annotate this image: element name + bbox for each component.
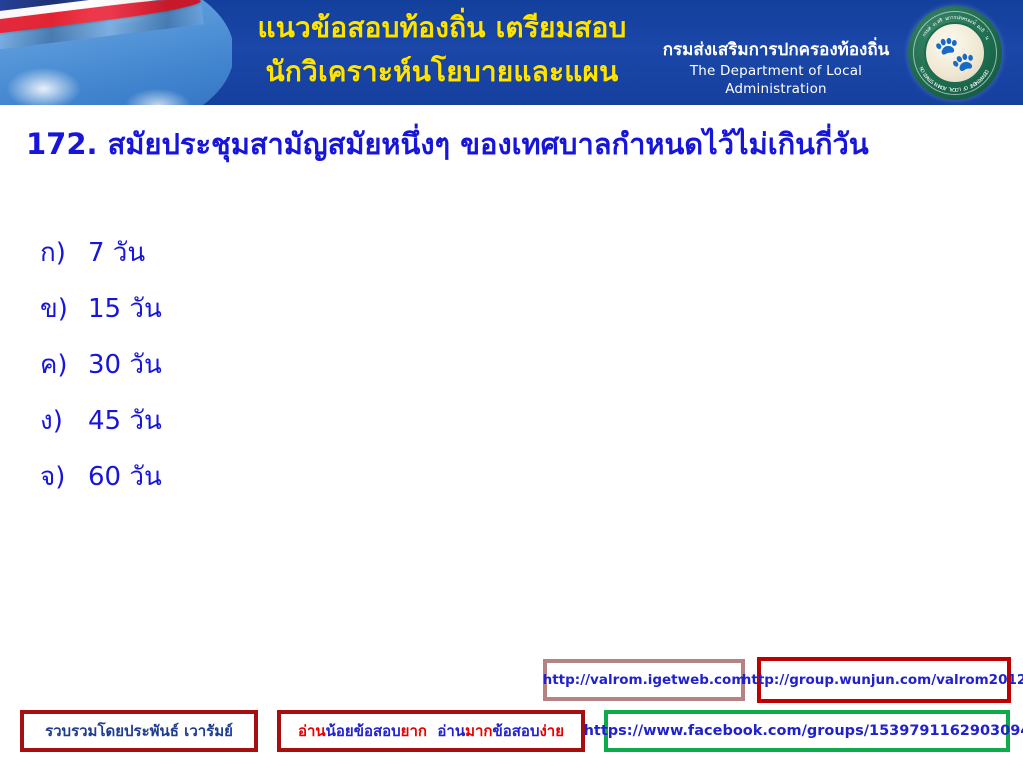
motto-seg-7: ง่าย: [539, 722, 564, 740]
question-text: 172. สมัยประชุมสามัญสมัยหนึ่งๆ ของเทศบาล…: [26, 122, 996, 166]
department-name: กรมส่งเสริมการปกครองท้องถิ่น The Departm…: [648, 38, 904, 98]
facebook-url-box[interactable]: https://www.facebook.com/groups/15397911…: [604, 710, 1010, 752]
department-name-thai: กรมส่งเสริมการปกครองท้องถิ่น: [648, 38, 904, 62]
department-name-english: The Department of Local Administration: [648, 62, 904, 98]
option-label-b: ข): [40, 288, 88, 329]
option-label-d: ง): [40, 400, 88, 441]
facebook-url-link[interactable]: https://www.facebook.com/groups/15397911…: [584, 723, 1023, 739]
singha-lion-icon: 🐾: [934, 37, 976, 71]
thai-flag-image: [0, 0, 232, 105]
sky-background: [0, 0, 232, 105]
banner-title: แนวข้อสอบท้องถิ่น เตรียมสอบ นักวิเคราะห์…: [232, 6, 652, 94]
motto-box: อ่านน้อยข้อสอบยาก อ่านมากข้อสอบง่าย: [277, 710, 585, 752]
option-value-b: 15 วัน: [88, 288, 162, 329]
slide-root: แนวข้อสอบท้องถิ่น เตรียมสอบ นักวิเคราะห์…: [0, 0, 1023, 767]
option-value-d: 45 วัน: [88, 400, 162, 441]
option-label-c: ค): [40, 344, 88, 385]
motto-seg-2: น้อยข้อสอบ: [326, 722, 401, 740]
answer-option-e[interactable]: จ) 60 วัน: [40, 456, 540, 512]
author-credit-text: รวบรวมโดยประพันธ์ เวารัมย์: [45, 719, 233, 743]
author-credit-box: รวบรวมโดยประพันธ์ เวารัมย์: [20, 710, 258, 752]
answer-options-list: ก) 7 วัน ข) 15 วัน ค) 30 วัน ง) 45 วัน จ…: [40, 232, 540, 512]
option-value-a: 7 วัน: [88, 232, 145, 273]
banner-title-line1: แนวข้อสอบท้องถิ่น เตรียมสอบ: [232, 6, 652, 50]
waving-flag: [0, 0, 202, 55]
option-value-c: 30 วัน: [88, 344, 162, 385]
header-banner: แนวข้อสอบท้องถิ่น เตรียมสอบ นักวิเคราะห์…: [0, 0, 1023, 105]
motto-seg-1: อ่าน: [298, 722, 326, 740]
answer-option-b[interactable]: ข) 15 วัน: [40, 288, 540, 344]
seal-inner-disc: 🐾: [924, 22, 986, 84]
department-seal-logo: กรมส่งเสริมการปกครองท้องถิ่นDEPARTMENT O…: [908, 6, 1002, 100]
motto-text: อ่านน้อยข้อสอบยาก อ่านมากข้อสอบง่าย: [298, 719, 564, 743]
motto-seg-4: อ่าน: [437, 722, 465, 740]
motto-seg-5: มาก: [465, 722, 492, 740]
motto-seg-6: ข้อสอบ: [493, 722, 540, 740]
option-label-e: จ): [40, 456, 88, 497]
igetweb-url-box[interactable]: http://valrom.igetweb.com: [543, 659, 745, 701]
wunjun-url-link[interactable]: http://group.wunjun.com/valrom2012: [742, 672, 1023, 688]
answer-option-d[interactable]: ง) 45 วัน: [40, 400, 540, 456]
motto-seg-3: ยาก: [401, 722, 433, 740]
option-value-e: 60 วัน: [88, 456, 162, 497]
wunjun-url-box[interactable]: http://group.wunjun.com/valrom2012: [757, 657, 1011, 703]
answer-option-a[interactable]: ก) 7 วัน: [40, 232, 540, 288]
igetweb-url-link[interactable]: http://valrom.igetweb.com: [543, 672, 746, 688]
option-label-a: ก): [40, 232, 88, 273]
answer-option-c[interactable]: ค) 30 วัน: [40, 344, 540, 400]
flag-wave-shading: [0, 0, 204, 55]
banner-title-line2: นักวิเคราะห์นโยบายและแผน: [232, 50, 652, 94]
